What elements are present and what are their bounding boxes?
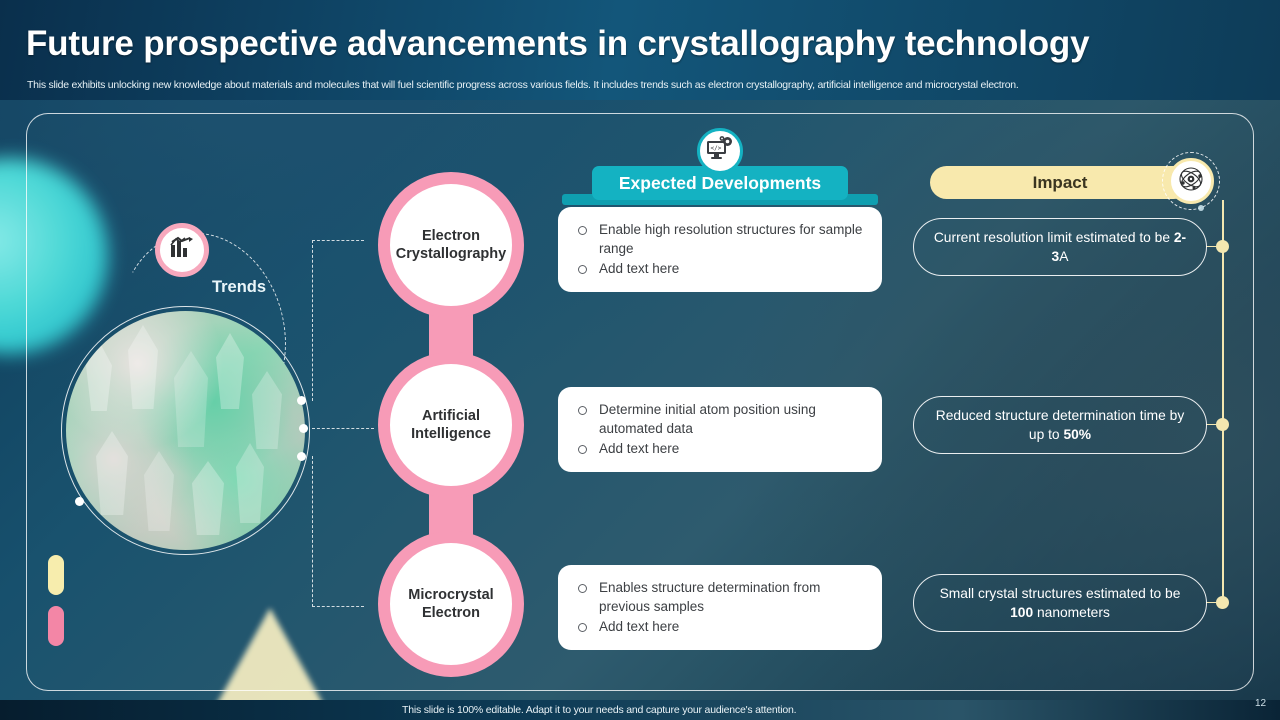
monitor-gear-icon: </>	[706, 136, 734, 167]
footer-note: This slide is 100% editable. Adapt it to…	[402, 704, 796, 716]
list-item: Add text here	[576, 439, 866, 458]
impact-rail	[1222, 200, 1224, 604]
list-item: Add text here	[576, 617, 866, 636]
atom-icon	[1177, 165, 1205, 198]
developments-icon-badge: </>	[697, 128, 743, 174]
trend-circle-artificial-intelligence[interactable]: Artificial Intelligence	[378, 352, 524, 498]
developments-box-3: Enables structure determination from pre…	[558, 565, 882, 650]
trend-circle-electron-crystallography[interactable]: Electron Crystallography	[378, 172, 524, 318]
developments-header-label: Expected Developments	[619, 173, 821, 194]
pink-pill-decoration	[48, 606, 64, 646]
trends-icon-badge	[155, 223, 209, 277]
impact-header-label: Impact	[1033, 173, 1088, 193]
svg-text:</>: </>	[711, 145, 722, 152]
trends-label: Trends	[203, 278, 275, 297]
developments-box-2: Determine initial atom position using au…	[558, 387, 882, 472]
impact-box-3: Small crystal structures estimated to be…	[913, 574, 1207, 632]
developments-list: Enables structure determination from pre…	[576, 578, 866, 636]
spark-decoration	[1198, 205, 1204, 211]
impact-rail-dot	[1216, 418, 1229, 431]
impact-text: Reduced structure determination time by …	[932, 406, 1188, 444]
page-number: 12	[1255, 698, 1266, 709]
dashed-connector-bottom	[312, 456, 364, 607]
crystal-photo-ring	[61, 306, 310, 555]
page-title: Future prospective advancements in cryst…	[26, 24, 1089, 64]
developments-list: Enable high resolution structures for sa…	[576, 220, 866, 278]
impact-header: Impact	[930, 166, 1190, 199]
connector-dot	[75, 497, 84, 506]
slide-canvas: Future prospective advancements in cryst…	[0, 0, 1280, 720]
connector-dot	[297, 452, 306, 461]
list-item: Enables structure determination from pre…	[576, 578, 866, 616]
impact-rail-dot	[1216, 596, 1229, 609]
impact-box-2: Reduced structure determination time by …	[913, 396, 1207, 454]
trend-circle-label: Electron Crystallography	[390, 227, 512, 263]
connector-dot	[297, 396, 306, 405]
connector-dot	[299, 424, 308, 433]
trend-circle-label: Artificial Intelligence	[390, 407, 512, 443]
list-item: Determine initial atom position using au…	[576, 400, 866, 438]
bar-chart-growth-icon	[169, 236, 195, 265]
impact-text: Current resolution limit estimated to be…	[932, 228, 1188, 266]
trend-circle-microcrystal-electron[interactable]: Microcrystal Electron	[378, 531, 524, 677]
trend-circle-label: Microcrystal Electron	[390, 586, 512, 622]
developments-box-1: Enable high resolution structures for sa…	[558, 207, 882, 292]
list-item: Enable high resolution structures for sa…	[576, 220, 866, 258]
impact-text: Small crystal structures estimated to be…	[932, 584, 1188, 622]
developments-list: Determine initial atom position using au…	[576, 400, 866, 458]
impact-box-1: Current resolution limit estimated to be…	[913, 218, 1207, 276]
dashed-connector-mid	[312, 428, 374, 429]
impact-icon-badge	[1168, 158, 1214, 204]
yellow-pill-decoration	[48, 555, 64, 595]
page-subtitle: This slide exhibits unlocking new knowle…	[27, 78, 1257, 92]
impact-rail-dot	[1216, 240, 1229, 253]
dashed-connector-top	[312, 240, 364, 401]
list-item: Add text here	[576, 259, 866, 278]
